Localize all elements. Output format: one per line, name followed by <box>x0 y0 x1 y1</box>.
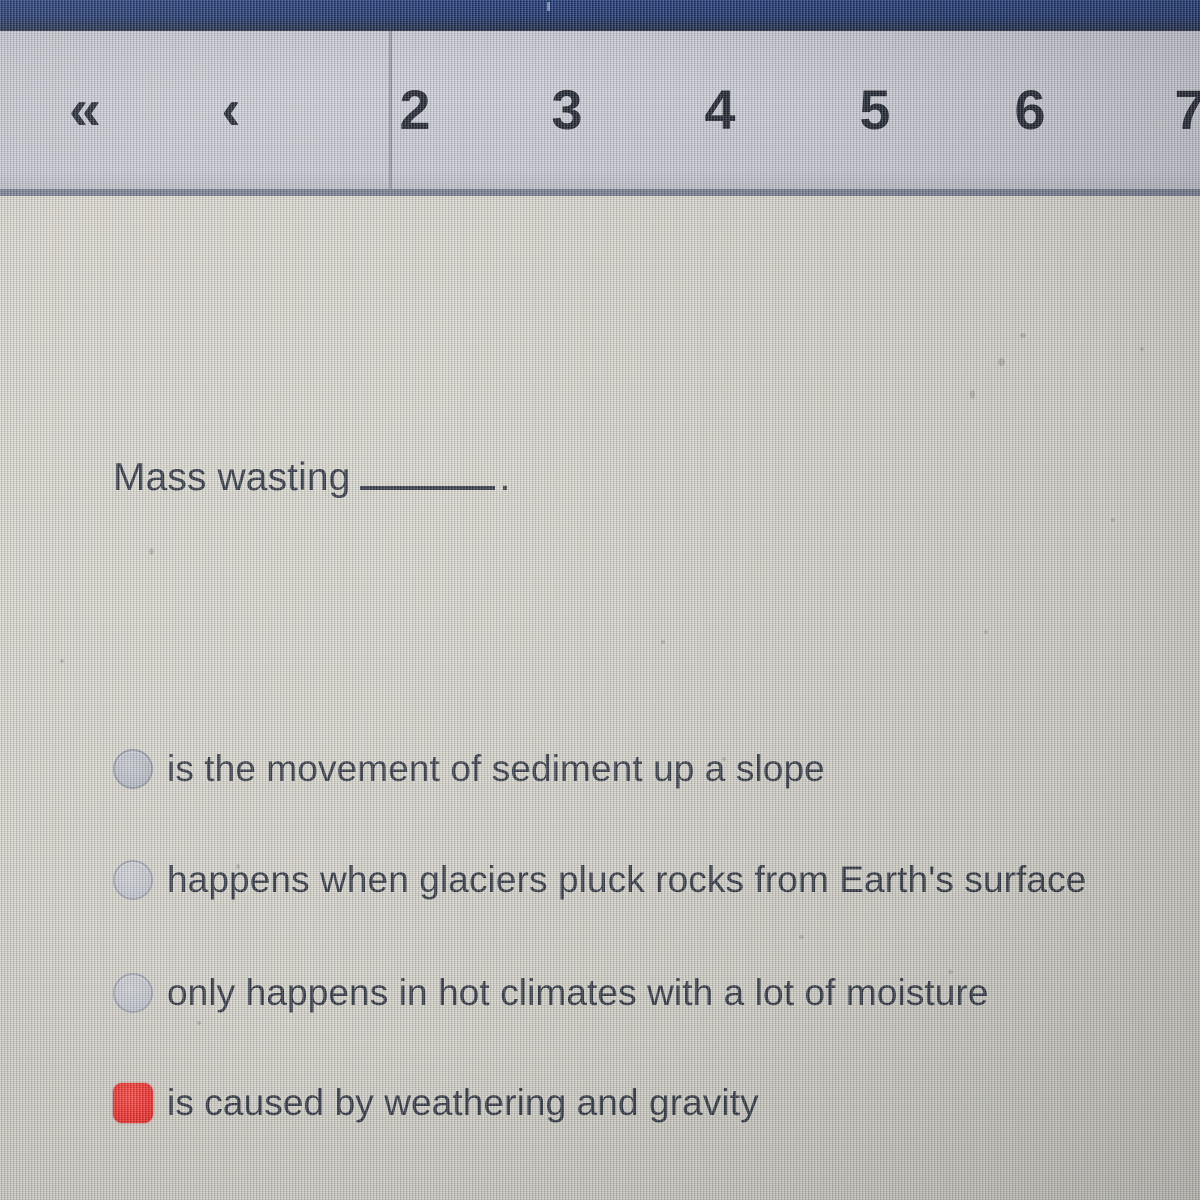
page-number-label: 5 <box>859 82 890 138</box>
page-number-button-3[interactable]: 3 <box>537 31 597 189</box>
double-chevron-left-icon: « <box>69 81 99 139</box>
page-number-button-7[interactable]: 7 <box>1160 31 1200 189</box>
toolbar-divider <box>389 31 392 189</box>
pagination-row: « ‹ 2 3 4 5 6 7 <box>0 31 1200 189</box>
answer-option-2[interactable]: happens when glaciers pluck rocks from E… <box>113 859 1086 901</box>
radio-button-unselected-icon[interactable] <box>113 749 153 789</box>
answer-option-label: is the movement of sediment up a slope <box>167 748 825 790</box>
page-number-button-2[interactable]: 2 <box>385 31 445 189</box>
answer-option-label: only happens in hot climates with a lot … <box>167 972 989 1014</box>
answer-option-label: happens when glaciers pluck rocks from E… <box>167 859 1086 901</box>
page-number-label: 7 <box>1174 82 1200 138</box>
answer-option-4[interactable]: is caused by weathering and gravity <box>113 1082 759 1124</box>
page-number-label: 6 <box>1014 82 1045 138</box>
chrome-bar-highlight <box>547 2 550 11</box>
page-number-button-4[interactable]: 4 <box>690 31 750 189</box>
question-prompt: Mass wasting . <box>113 456 510 500</box>
browser-chrome-bar <box>0 0 1200 31</box>
page-number-label: 3 <box>551 82 582 138</box>
chevron-left-icon: ‹ <box>221 81 238 139</box>
pagination-toolbar[interactable]: « ‹ 2 3 4 5 6 7 <box>0 31 1200 196</box>
answer-option-1[interactable]: is the movement of sediment up a slope <box>113 748 825 790</box>
previous-page-button[interactable]: ‹ <box>190 31 270 189</box>
page-number-label: 4 <box>704 82 735 138</box>
answer-option-label: is caused by weathering and gravity <box>167 1082 759 1124</box>
page-number-button-6[interactable]: 6 <box>1000 31 1060 189</box>
quiz-content-area: Mass wasting . is the movement of sedime… <box>0 196 1200 1200</box>
radio-button-unselected-icon[interactable] <box>113 860 153 900</box>
radio-button-selected-icon[interactable] <box>113 1083 153 1123</box>
page-number-label: 2 <box>399 82 430 138</box>
answer-option-3[interactable]: only happens in hot climates with a lot … <box>113 972 989 1014</box>
question-period: . <box>499 456 510 500</box>
question-blank-line <box>360 460 495 490</box>
page-number-button-5[interactable]: 5 <box>845 31 905 189</box>
question-stem-text: Mass wasting <box>113 456 350 500</box>
radio-button-unselected-icon[interactable] <box>113 973 153 1013</box>
photographed-screen: « ‹ 2 3 4 5 6 7 <box>0 0 1200 1200</box>
first-page-button[interactable]: « <box>36 31 132 189</box>
